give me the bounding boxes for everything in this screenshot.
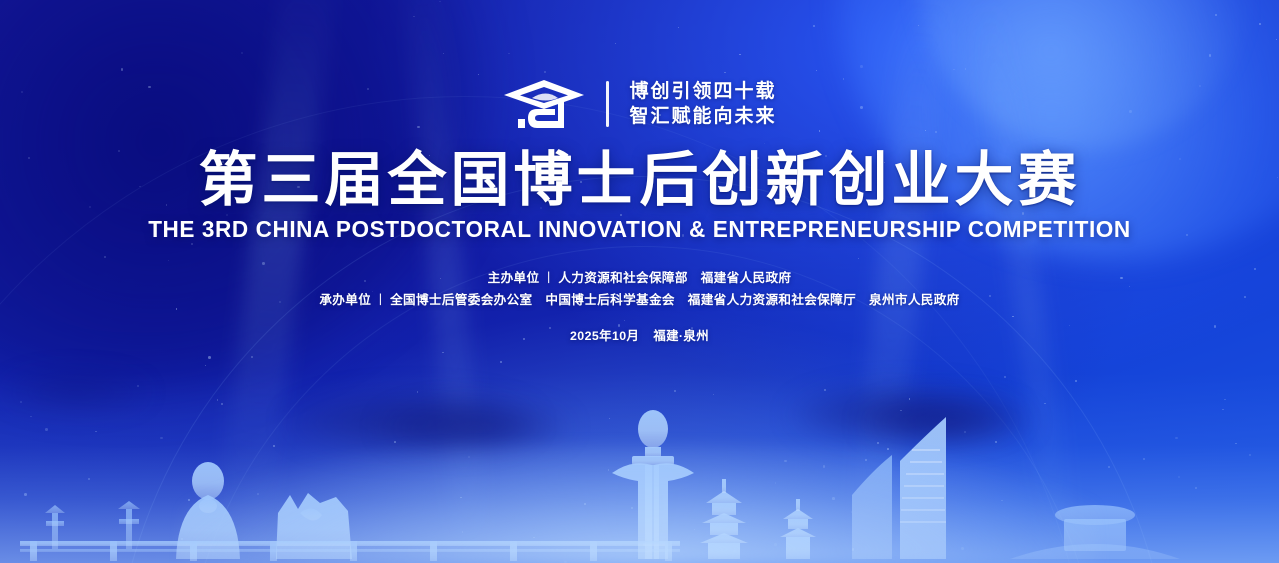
organizer-line: 承办单位丨全国博士后管委会办公室 中国博士后科学基金会 福建省人力资源和社会保障… bbox=[0, 289, 1279, 311]
organizers-block: 主办单位丨人力资源和社会保障部 福建省人民政府 承办单位丨全国博士后管委会办公室… bbox=[0, 267, 1279, 311]
slogan-line-1: 博创引领四十载 bbox=[629, 79, 776, 104]
event-poster: 博创引领四十载 智汇赋能向未来 第三届全国博士后创新创业大赛 THE 3RD C… bbox=[0, 0, 1279, 563]
host-label: 主办单位 bbox=[488, 271, 540, 285]
event-date: 2025年10月 bbox=[570, 329, 639, 343]
slogan: 博创引领四十载 智汇赋能向未来 bbox=[629, 79, 776, 129]
light-rays-bottom-right bbox=[979, 373, 1279, 563]
date-location-line: 2025年10月福建·泉州 bbox=[0, 326, 1279, 344]
organizer-value: 全国博士后管委会办公室 中国博士后科学基金会 福建省人力资源和社会保障厅 泉州市… bbox=[390, 293, 960, 307]
host-line: 主办单位丨人力资源和社会保障部 福建省人民政府 bbox=[0, 267, 1279, 289]
logo-divider bbox=[606, 81, 609, 127]
host-value: 人力资源和社会保障部 福建省人民政府 bbox=[558, 271, 791, 285]
organizer-label: 承办单位 bbox=[319, 293, 371, 307]
slogan-line-2: 智汇赋能向未来 bbox=[629, 104, 776, 129]
graduation-cap-icon bbox=[502, 78, 586, 130]
emblem-row: 博创引领四十载 智汇赋能向未来 bbox=[0, 0, 1279, 130]
main-title-en: THE 3RD CHINA POSTDOCTORAL INNOVATION & … bbox=[26, 216, 1254, 243]
main-title-cn: 第三届全国博士后创新创业大赛 bbox=[0, 148, 1279, 212]
event-place: 福建·泉州 bbox=[653, 329, 709, 343]
organizer-separator: 丨 bbox=[374, 293, 387, 307]
bottom-mist-center bbox=[180, 443, 1099, 563]
poster-content: 博创引领四十载 智汇赋能向未来 第三届全国博士后创新创业大赛 THE 3RD C… bbox=[0, 0, 1279, 344]
host-separator: 丨 bbox=[542, 271, 555, 285]
